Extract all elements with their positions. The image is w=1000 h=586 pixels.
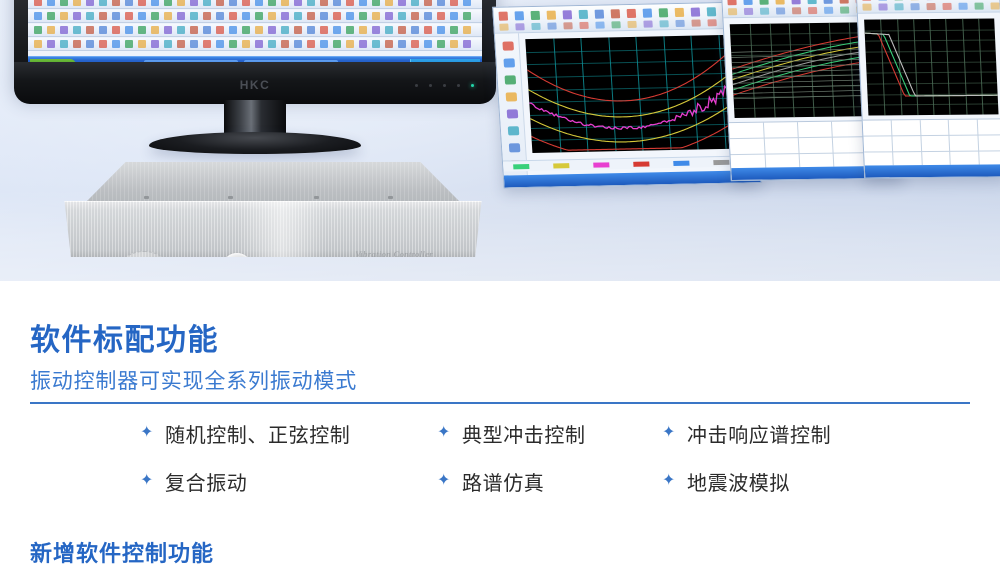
hero-reflection-floor — [0, 189, 1000, 281]
sparkle-bullet-icon: ✦ — [140, 425, 153, 441]
sparkle-bullet-icon: ✦ — [437, 473, 450, 489]
content-section: 软件标配功能 振动控制器可实现全系列振动模式 ✦ 随机控制、正弦控制 ✦ 典型冲… — [0, 281, 1000, 586]
feature-label: 典型冲击控制 — [462, 419, 586, 448]
shock-plot — [864, 18, 998, 115]
feature-label: 地震波模拟 — [687, 467, 790, 496]
feature-item: ✦ 典型冲击控制 — [437, 419, 586, 448]
window-status-bar — [504, 170, 761, 187]
feature-row: ✦ 随机控制、正弦控制 ✦ 典型冲击控制 ✦ 冲击响应谱控制 — [0, 419, 1000, 464]
data-table — [863, 118, 1000, 165]
feature-item: ✦ 路谱仿真 — [437, 467, 544, 496]
feature-label: 冲击响应谱控制 — [687, 419, 831, 448]
feature-item: ✦ 冲击响应谱控制 — [662, 419, 831, 448]
software-window-random-psd — [492, 1, 762, 188]
monitor-brand-logo: HKC — [240, 78, 271, 92]
sparkle-bullet-icon: ✦ — [662, 473, 675, 489]
hero-banner: 0.0010 1.0e-04 HKC — [0, 0, 1000, 281]
section-title: 软件标配功能 — [30, 326, 219, 356]
plot-legend — [503, 155, 760, 171]
psd-plot — [525, 35, 752, 153]
monitor-indicator-leds — [415, 84, 474, 87]
feature-item: ✦ 随机控制、正弦控制 — [140, 419, 350, 448]
section-subtitle: 振动控制器可实现全系列振动模式 — [30, 371, 357, 392]
window-toolbar — [857, 0, 1000, 14]
feature-label: 复合振动 — [165, 467, 247, 496]
window-status-bar — [865, 164, 1000, 177]
sparkle-bullet-icon: ✦ — [662, 425, 675, 441]
software-screenshot-stack — [498, 0, 1000, 198]
sparkle-bullet-icon: ✦ — [437, 425, 450, 441]
sparkle-bullet-icon: ✦ — [140, 473, 153, 489]
window-toolbar — [493, 2, 751, 33]
screen-toolbars — [28, 0, 482, 56]
feature-item: ✦ 复合振动 — [140, 467, 247, 496]
feature-label: 路谱仿真 — [462, 467, 544, 496]
section-divider — [30, 402, 970, 404]
monitor-stand-base — [149, 132, 361, 154]
product-feature-page: 0.0010 1.0e-04 HKC — [0, 0, 1000, 586]
desktop-monitor: 0.0010 1.0e-04 HKC — [14, 0, 496, 150]
feature-item: ✦ 地震波模拟 — [662, 467, 790, 496]
feature-row: ✦ 复合振动 ✦ 路谱仿真 ✦ 地震波模拟 — [0, 467, 1000, 512]
software-window-shock-response — [856, 0, 1000, 179]
feature-label: 随机控制、正弦控制 — [165, 419, 350, 448]
section-title-secondary: 新增软件控制功能 — [30, 543, 214, 565]
